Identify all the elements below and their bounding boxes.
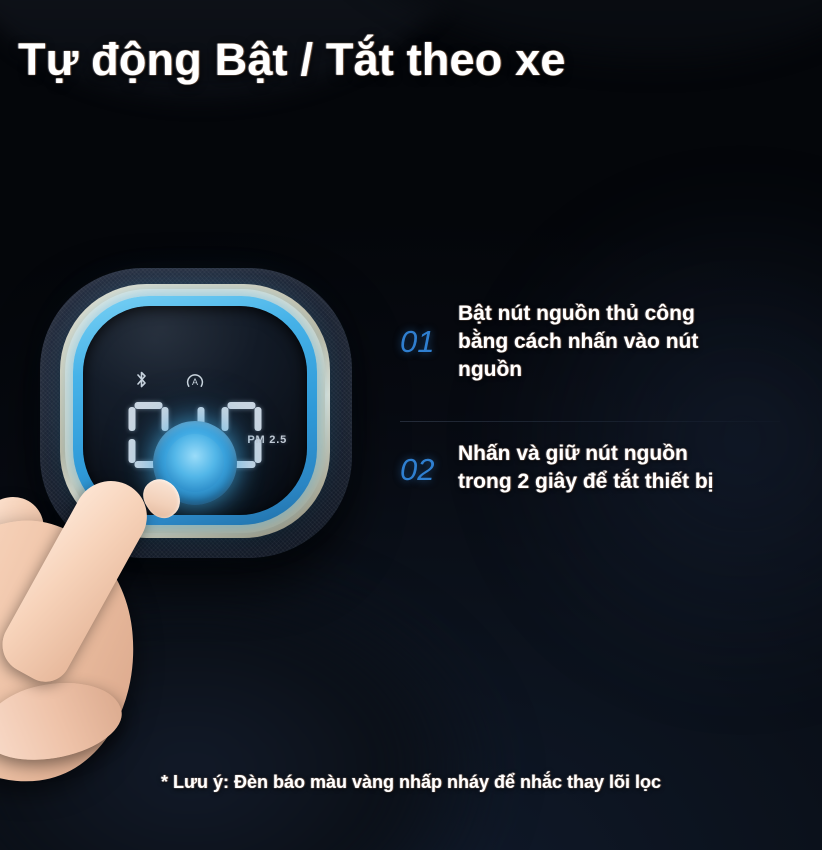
- step-text-02: Nhấn và giữ nút nguồn trong 2 giây để tắ…: [458, 440, 800, 496]
- step-divider: [400, 421, 780, 422]
- bluetooth-icon: [135, 370, 148, 389]
- step-text-01: Bật nút nguồn thủ công bằng cách nhấn và…: [458, 300, 800, 384]
- step-row: 01 Bật nút nguồn thủ công bằng cách nhấn…: [400, 300, 800, 384]
- pm25-label: PM 2.5: [247, 434, 287, 446]
- instruction-step-1: 01 Bật nút nguồn thủ công bằng cách nhấn…: [400, 300, 800, 384]
- page-title: Tự động Bật / Tắt theo xe: [18, 34, 566, 86]
- fingernail: [137, 472, 188, 524]
- step-number-02: 02: [400, 454, 458, 485]
- hand-pressing-power-button: [0, 470, 276, 800]
- instruction-step-2: 02 Nhấn và giữ nút nguồn trong 2 giây để…: [400, 440, 800, 496]
- footer-note: * Lưu ý: Đèn báo màu vàng nhấp nháy để n…: [0, 772, 822, 793]
- step-row: 02 Nhấn và giữ nút nguồn trong 2 giây để…: [400, 440, 800, 496]
- auto-mode-icon: A: [186, 372, 205, 391]
- screen-reflection: [83, 306, 262, 400]
- step-number-01: 01: [400, 326, 458, 357]
- svg-text:A: A: [192, 377, 198, 387]
